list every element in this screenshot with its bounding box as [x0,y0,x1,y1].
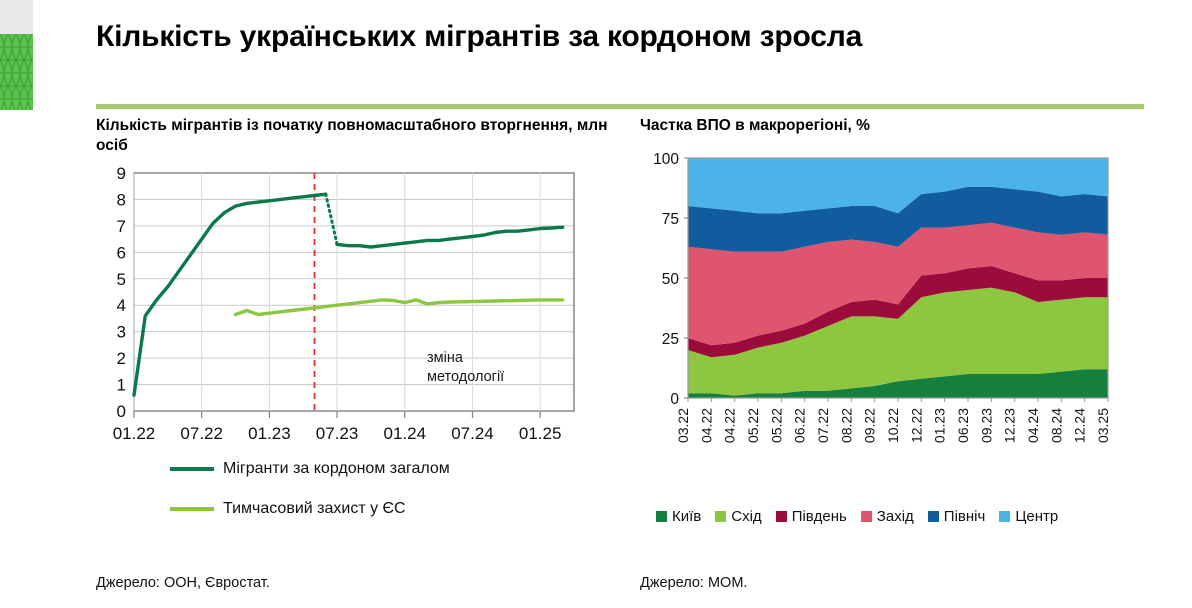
legend-item-center: Центр [999,508,1058,525]
svg-text:01.23: 01.23 [248,424,291,443]
svg-text:01.24: 01.24 [383,424,426,443]
left-chart-source: Джерело: ООН, Євростат. [96,575,270,591]
right-chart-canvas: 025507510003.2204.2204.2205.2205.2206.22… [640,148,1140,508]
decor-green-pattern [0,34,33,110]
right-chart-subtitle: Частка ВПО в макрорегіоні, % [640,116,1150,136]
svg-text:06.23: 06.23 [955,408,971,443]
legend-swatch-box [776,511,787,522]
svg-text:04.22: 04.22 [722,408,738,443]
svg-text:6: 6 [117,243,126,262]
legend-swatch-box [656,511,667,522]
legend-item-south: Південь [776,508,847,525]
svg-text:0: 0 [670,391,679,408]
svg-text:01.25: 01.25 [519,424,562,443]
svg-text:4: 4 [117,296,126,315]
svg-text:8: 8 [117,190,126,209]
svg-text:01.22: 01.22 [113,424,156,443]
left-chart-canvas: 012345678901.2207.2201.2307.2301.2407.24… [96,163,596,453]
methodology-annotation-line1: зміна [427,349,504,369]
svg-text:03.22: 03.22 [675,408,691,443]
left-chart-panel: Кількість мігрантів із початку повномасш… [96,116,616,463]
svg-text:05.22: 05.22 [745,408,761,443]
svg-text:25: 25 [662,331,679,348]
svg-text:05.22: 05.22 [768,408,784,443]
legend-item-east: Схід [715,508,761,525]
svg-text:100: 100 [653,151,679,168]
left-line-chart: 012345678901.2207.2201.2307.2301.2407.24… [96,163,596,463]
methodology-annotation-line2: методології [427,368,504,388]
svg-text:12.23: 12.23 [1002,408,1018,443]
svg-text:2: 2 [117,349,126,368]
svg-text:12.22: 12.22 [908,408,924,443]
legend-item-migrants-total: Мігранти за кордоном загалом [96,460,616,478]
svg-text:3: 3 [117,323,126,342]
legend-label: Північ [944,508,986,525]
svg-text:08.24: 08.24 [1048,408,1064,443]
legend-label: Мігранти за кордоном загалом [223,460,450,478]
methodology-annotation: зміна методології [427,349,504,388]
svg-text:07.22: 07.22 [815,408,831,443]
legend-swatch-box [999,511,1010,522]
left-chart-legend: Мігранти за кордоном загалом Тимчасовий … [96,460,616,540]
svg-text:04.24: 04.24 [1025,408,1041,443]
svg-text:07.23: 07.23 [316,424,359,443]
svg-text:10.22: 10.22 [885,408,901,443]
legend-item-kyiv: Київ [656,508,701,525]
svg-text:0: 0 [117,402,126,421]
right-chart-panel: Частка ВПО в макрорегіоні, % 02550751000… [640,116,1150,488]
legend-item-west: Захід [861,508,914,525]
svg-text:09.23: 09.23 [978,408,994,443]
svg-text:9: 9 [117,164,126,183]
right-chart-source: Джерело: МОМ. [640,575,747,591]
svg-text:7: 7 [117,217,126,236]
legend-swatch-line [170,507,214,511]
svg-text:01.23: 01.23 [932,408,948,443]
legend-swatch-box [928,511,939,522]
legend-label: Південь [792,508,847,525]
header-rule [96,104,1144,109]
legend-label: Тимчасовий захист у ЄС [223,500,406,518]
decor-gray-block [0,0,33,34]
legend-label: Захід [877,508,914,525]
left-chart-subtitle: Кількість мігрантів із початку повномасш… [96,116,616,157]
svg-text:75: 75 [662,211,679,228]
svg-text:12.24: 12.24 [1072,408,1088,443]
svg-text:09.22: 09.22 [862,408,878,443]
legend-swatch-line [170,467,214,471]
legend-swatch-box [715,511,726,522]
svg-text:07.24: 07.24 [451,424,494,443]
svg-text:07.22: 07.22 [180,424,223,443]
legend-label: Центр [1015,508,1058,525]
legend-label: Київ [672,508,701,525]
page-title: Кількість українських мігрантів за кордо… [96,20,1146,55]
svg-text:03.25: 03.25 [1095,408,1111,443]
svg-text:50: 50 [662,271,680,288]
svg-text:1: 1 [117,375,126,394]
right-chart-legend: Київ Схід Південь Захід Північ Центр [656,508,1058,525]
legend-swatch-box [861,511,872,522]
svg-text:5: 5 [117,270,126,289]
legend-item-north: Північ [928,508,986,525]
legend-label: Схід [731,508,761,525]
svg-text:06.22: 06.22 [792,408,808,443]
svg-text:04.22: 04.22 [698,408,714,443]
right-area-chart: 025507510003.2204.2204.2205.2205.2206.22… [640,148,1140,488]
svg-text:08.22: 08.22 [838,408,854,443]
legend-item-temporary-protection-eu: Тимчасовий захист у ЄС [96,500,616,518]
